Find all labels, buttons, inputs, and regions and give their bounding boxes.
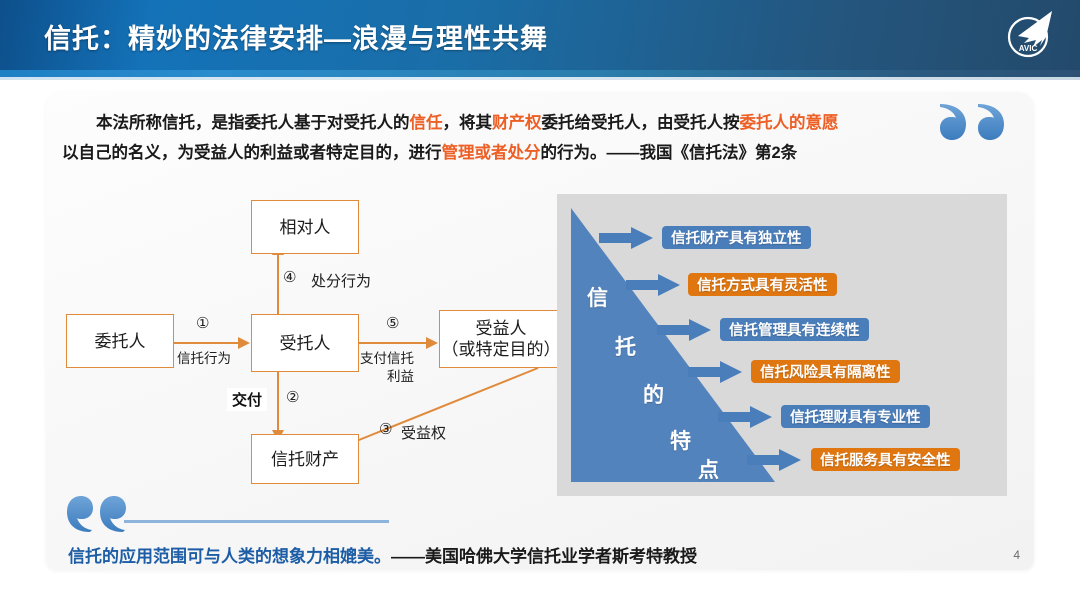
diagram-box-beneficiary[interactable]: 受益人 （或特定目的） xyxy=(439,310,563,368)
diagram-box-settlor[interactable]: 委托人 xyxy=(66,314,174,368)
diagram-box-trust-property[interactable]: 信托财产 xyxy=(251,434,359,484)
footer-quote-attribution: ——美国哈佛大学信托业学者斯考特教授 xyxy=(391,547,697,566)
block-arrow-5 xyxy=(718,406,772,428)
triangle-char-2: 托 xyxy=(615,331,636,361)
trust-flow-diagram: 相对人 委托人 受托人 受益人 （或特定目的） 信托财产 ④ 处分行为 ① 信托… xyxy=(46,192,576,482)
feature-item-4[interactable]: 信托风险具有隔离性 xyxy=(751,360,900,383)
diagram-box-beneficiary-label-line2: （或特定目的） xyxy=(442,339,561,360)
feature-item-2-label: 信托方式具有灵活性 xyxy=(697,274,828,295)
edge-number-5: ⑤ xyxy=(386,314,399,332)
quote-open-icon xyxy=(66,496,126,536)
edge-line-1 xyxy=(174,342,242,344)
edge-line-2 xyxy=(277,370,279,434)
footer-quote-line: 信托的应用范围可与人类的想象力相媲美。——美国哈佛大学信托业学者斯考特教授 xyxy=(68,542,697,567)
page-number: 4 xyxy=(1013,548,1020,562)
quote-line2-b: 的行为。——我国《信托法》第2条 xyxy=(541,144,798,162)
quote-hl-property-right: 财产权 xyxy=(492,114,542,132)
edge-label-5-line1: 支付信托 xyxy=(360,347,414,367)
diagram-box-trustee[interactable]: 受托人 xyxy=(251,314,359,372)
quote-hl-settlor-will: 委托人的意愿 xyxy=(740,114,839,132)
feature-item-6[interactable]: 信托服务具有安全性 xyxy=(811,448,960,471)
quote-hl-trust: 信任 xyxy=(410,114,443,132)
feature-item-1-label: 信托财产具有独立性 xyxy=(671,227,802,248)
feature-item-1[interactable]: 信托财产具有独立性 xyxy=(662,226,811,249)
feature-item-6-label: 信托服务具有安全性 xyxy=(820,449,951,470)
diagram-box-counterparty-label: 相对人 xyxy=(280,217,331,238)
quote-hl-manage-dispose: 管理或者处分 xyxy=(442,144,541,162)
footer-quote-text: 信托的应用范围可与人类的想象力相媲美。 xyxy=(68,547,391,566)
edge-number-1: ① xyxy=(196,314,209,332)
footer-divider xyxy=(124,520,389,523)
quote-line2-a: 以自己的名义，为受益人的利益或者特定目的，进行 xyxy=(62,144,442,162)
edge-label-2-deliver: 交付 xyxy=(227,388,267,411)
edge-arrowhead-1 xyxy=(238,336,251,350)
feature-item-2[interactable]: 信托方式具有灵活性 xyxy=(688,273,837,296)
diagram-box-settlor-label: 委托人 xyxy=(95,331,146,352)
edge-label-4: 处分行为 xyxy=(311,270,371,291)
avic-logo-text: AVIC xyxy=(1019,44,1038,53)
block-arrow-4 xyxy=(688,361,742,383)
triangle-char-5: 点 xyxy=(698,454,719,484)
edge-number-2: ② xyxy=(286,388,299,406)
law-quote-paragraph: 本法所称信托，是指委托人基于对受托人的信任，将其财产权委托给受托人，由受托人按委… xyxy=(62,108,952,168)
feature-item-3[interactable]: 信托管理具有连续性 xyxy=(720,318,869,341)
edge-arrowhead-5 xyxy=(426,336,439,350)
edge-number-3: ③ xyxy=(379,420,392,438)
footer-quote-block: 信托的应用范围可与人类的想象力相媲美。——美国哈佛大学信托业学者斯考特教授 xyxy=(46,490,1034,570)
feature-item-5-label: 信托理财具有专业性 xyxy=(790,406,921,427)
block-arrow-3 xyxy=(657,319,711,341)
diagram-box-trustee-label: 受托人 xyxy=(280,333,331,354)
edge-line-5 xyxy=(358,342,430,344)
diagram-box-beneficiary-label-line1: 受益人 xyxy=(476,318,527,339)
edge-label-1: 信托行为 xyxy=(177,347,231,367)
feature-item-3-label: 信托管理具有连续性 xyxy=(729,319,860,340)
feature-item-5[interactable]: 信托理财具有专业性 xyxy=(781,405,930,428)
page-title: 信托：精妙的法律安排—浪漫与理性共舞 xyxy=(44,17,548,56)
diagram-box-counterparty[interactable]: 相对人 xyxy=(251,200,359,254)
triangle-char-4: 特 xyxy=(670,425,691,455)
quote-line1-c: 委托给受托人，由受托人按 xyxy=(542,114,740,132)
header-accent-strip xyxy=(0,70,1080,77)
quote-line1-a: 本法所称信托，是指委托人基于对受托人的 xyxy=(96,114,410,132)
triangle-char-3: 的 xyxy=(643,379,664,409)
content-card: 本法所称信托，是指委托人基于对受托人的信任，将其财产权委托给受托人，由受托人按委… xyxy=(46,92,1034,570)
edge-number-4: ④ xyxy=(283,268,296,286)
slide-header: 信托：精妙的法律安排—浪漫与理性共舞 AVIC xyxy=(0,0,1080,70)
block-arrow-2 xyxy=(626,274,680,296)
avic-logo-icon: AVIC xyxy=(1002,7,1058,63)
quote-line1-b: ，将其 xyxy=(443,114,493,132)
trust-features-panel: 信 托 的 特 点 信托财产具有独立性 信托方式具有灵活性 信托管理具有连 xyxy=(557,194,1007,496)
block-arrow-1 xyxy=(599,227,653,249)
triangle-char-1: 信 xyxy=(587,282,608,312)
diagram-box-trust-property-label: 信托财产 xyxy=(271,449,339,470)
feature-item-4-label: 信托风险具有隔离性 xyxy=(760,361,891,382)
edge-label-3: 受益权 xyxy=(401,422,446,443)
block-arrow-6 xyxy=(747,449,801,471)
edge-label-5-line2: 利益 xyxy=(387,365,414,385)
header-accent-strip-light xyxy=(0,77,1080,80)
